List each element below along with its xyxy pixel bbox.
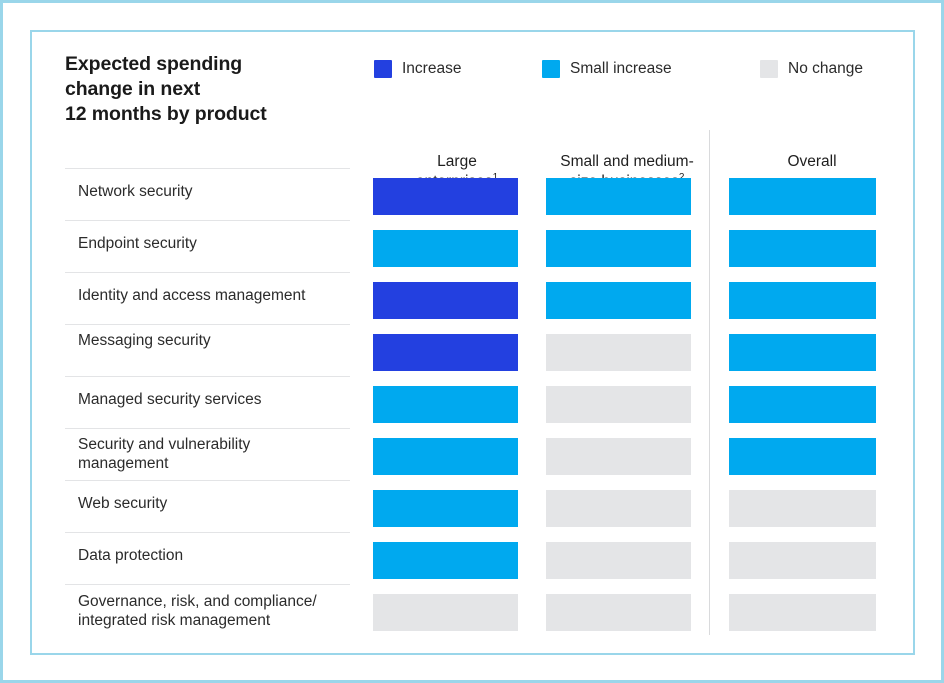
- bar-cell: [729, 490, 876, 527]
- bar-cell: [546, 178, 691, 215]
- chart-rows: Network securityEndpoint securityIdentit…: [32, 32, 913, 653]
- row-divider: [65, 480, 350, 481]
- bar-cell: [373, 386, 518, 423]
- row-label: Data protection: [78, 546, 356, 565]
- bar-cell: [546, 334, 691, 371]
- bar-cell: [546, 386, 691, 423]
- row-divider: [65, 272, 350, 273]
- row-label: Endpoint security: [78, 234, 356, 253]
- bar-cell: [373, 230, 518, 267]
- bar-cell: [373, 594, 518, 631]
- bar-cell: [729, 594, 876, 631]
- bar-cell: [729, 282, 876, 319]
- bar-cell: [546, 490, 691, 527]
- row-label: Managed security services: [78, 390, 356, 409]
- bar-cell: [546, 438, 691, 475]
- row-label: Network security: [78, 182, 356, 201]
- bar-cell: [729, 438, 876, 475]
- bar-cell: [729, 178, 876, 215]
- bar-cell: [546, 230, 691, 267]
- bar-cell: [729, 334, 876, 371]
- bar-cell: [373, 542, 518, 579]
- row-divider: [65, 220, 350, 221]
- row-divider: [65, 376, 350, 377]
- bar-cell: [546, 594, 691, 631]
- row-label: Identity and access management: [78, 286, 356, 305]
- bar-cell: [373, 282, 518, 319]
- row-label: Governance, risk, and compliance/ integr…: [78, 592, 356, 630]
- bar-cell: [373, 490, 518, 527]
- row-label: Security and vulnerability management: [78, 435, 356, 473]
- bar-cell: [373, 334, 518, 371]
- row-label: Messaging security: [78, 331, 356, 350]
- row-divider: [65, 532, 350, 533]
- bar-cell: [546, 282, 691, 319]
- bar-cell: [729, 230, 876, 267]
- row-divider: [65, 428, 350, 429]
- bar-cell: [373, 178, 518, 215]
- row-divider: [65, 324, 350, 325]
- row-divider: [65, 584, 350, 585]
- bar-cell: [729, 386, 876, 423]
- page-root: Expected spending change in next 12 mont…: [0, 0, 944, 683]
- row-divider: [65, 168, 350, 169]
- chart-card: Expected spending change in next 12 mont…: [30, 30, 915, 655]
- row-label: Web security: [78, 494, 356, 513]
- bar-cell: [546, 542, 691, 579]
- bar-cell: [729, 542, 876, 579]
- bar-cell: [373, 438, 518, 475]
